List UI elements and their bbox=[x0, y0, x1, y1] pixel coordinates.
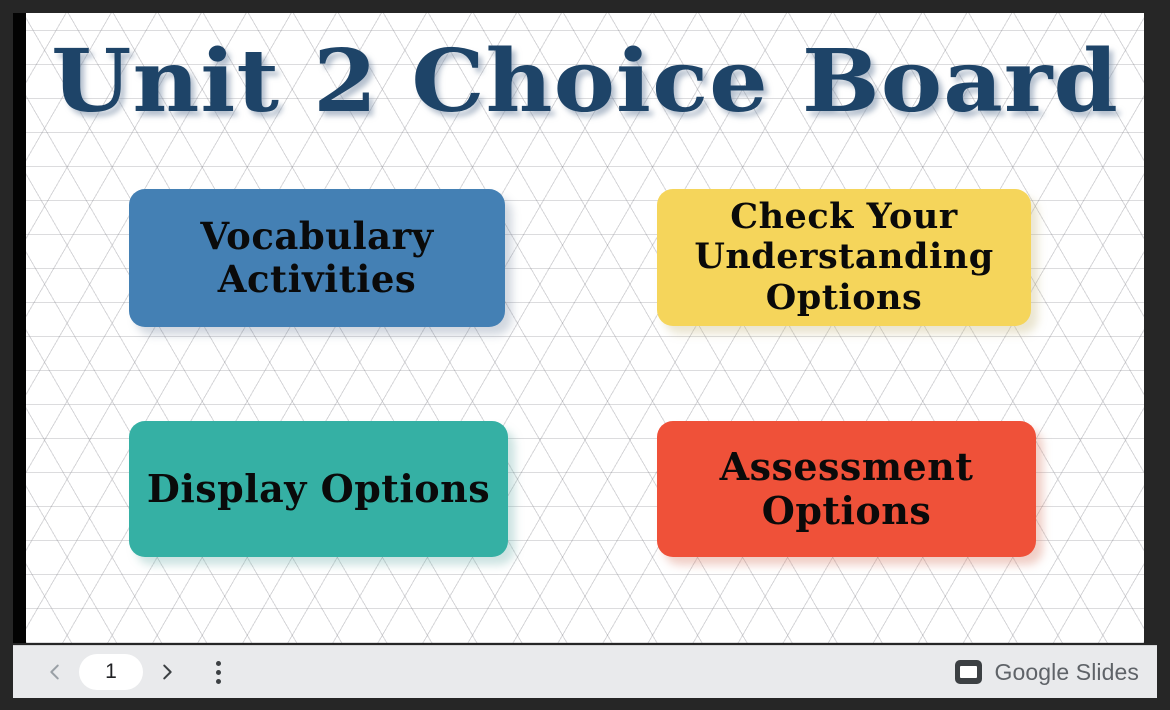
choice-button-display-options[interactable]: Display Options bbox=[129, 421, 508, 557]
toolbar-brand-group[interactable]: Google Slides bbox=[955, 659, 1140, 686]
google-slides-label: Google Slides bbox=[995, 659, 1140, 686]
choice-label-line: Options bbox=[766, 277, 922, 318]
more-vert-icon-dot bbox=[216, 679, 221, 684]
choice-label-line: Activities bbox=[218, 257, 416, 301]
toolbar-navigation-group: 1 bbox=[35, 652, 237, 692]
slide-canvas[interactable]: Unit 2 Choice Board Vocabulary Activitie… bbox=[26, 13, 1144, 643]
more-vert-icon-dot bbox=[216, 661, 221, 666]
choice-label-line: Understanding bbox=[694, 236, 993, 277]
choice-label: Check Your Understanding Options bbox=[671, 197, 1017, 319]
previous-slide-button[interactable] bbox=[35, 652, 75, 692]
choice-button-vocabulary-activities[interactable]: Vocabulary Activities bbox=[129, 189, 505, 327]
choice-button-assessment-options[interactable]: Assessment Options bbox=[657, 421, 1036, 557]
chevron-right-icon bbox=[156, 661, 178, 683]
chevron-left-icon bbox=[44, 661, 66, 683]
google-slides-icon-inner bbox=[960, 666, 977, 678]
page-title: Unit 2 Choice Board bbox=[26, 37, 1144, 127]
choice-label-line: Options bbox=[762, 488, 932, 533]
page-number-field[interactable]: 1 bbox=[79, 654, 143, 690]
google-slides-icon bbox=[955, 660, 982, 684]
choice-label: Assessment Options bbox=[671, 445, 1022, 533]
slides-viewer: Unit 2 Choice Board Vocabulary Activitie… bbox=[0, 0, 1170, 710]
more-vert-icon-dot bbox=[216, 670, 221, 675]
choice-label-line: Vocabulary bbox=[200, 214, 433, 258]
choice-label-line: Display Options bbox=[147, 466, 490, 511]
more-options-button[interactable] bbox=[199, 652, 237, 692]
choice-label-line: Check Your bbox=[730, 196, 958, 237]
next-slide-button[interactable] bbox=[147, 652, 187, 692]
presentation-toolbar: 1 Google Slides bbox=[13, 645, 1157, 698]
choice-label: Display Options bbox=[143, 467, 494, 511]
choice-label: Vocabulary Activities bbox=[143, 215, 491, 301]
choice-button-check-your-understanding-options[interactable]: Check Your Understanding Options bbox=[657, 189, 1031, 326]
page-number-value: 1 bbox=[105, 660, 117, 684]
choice-label-line: Assessment bbox=[720, 444, 974, 489]
